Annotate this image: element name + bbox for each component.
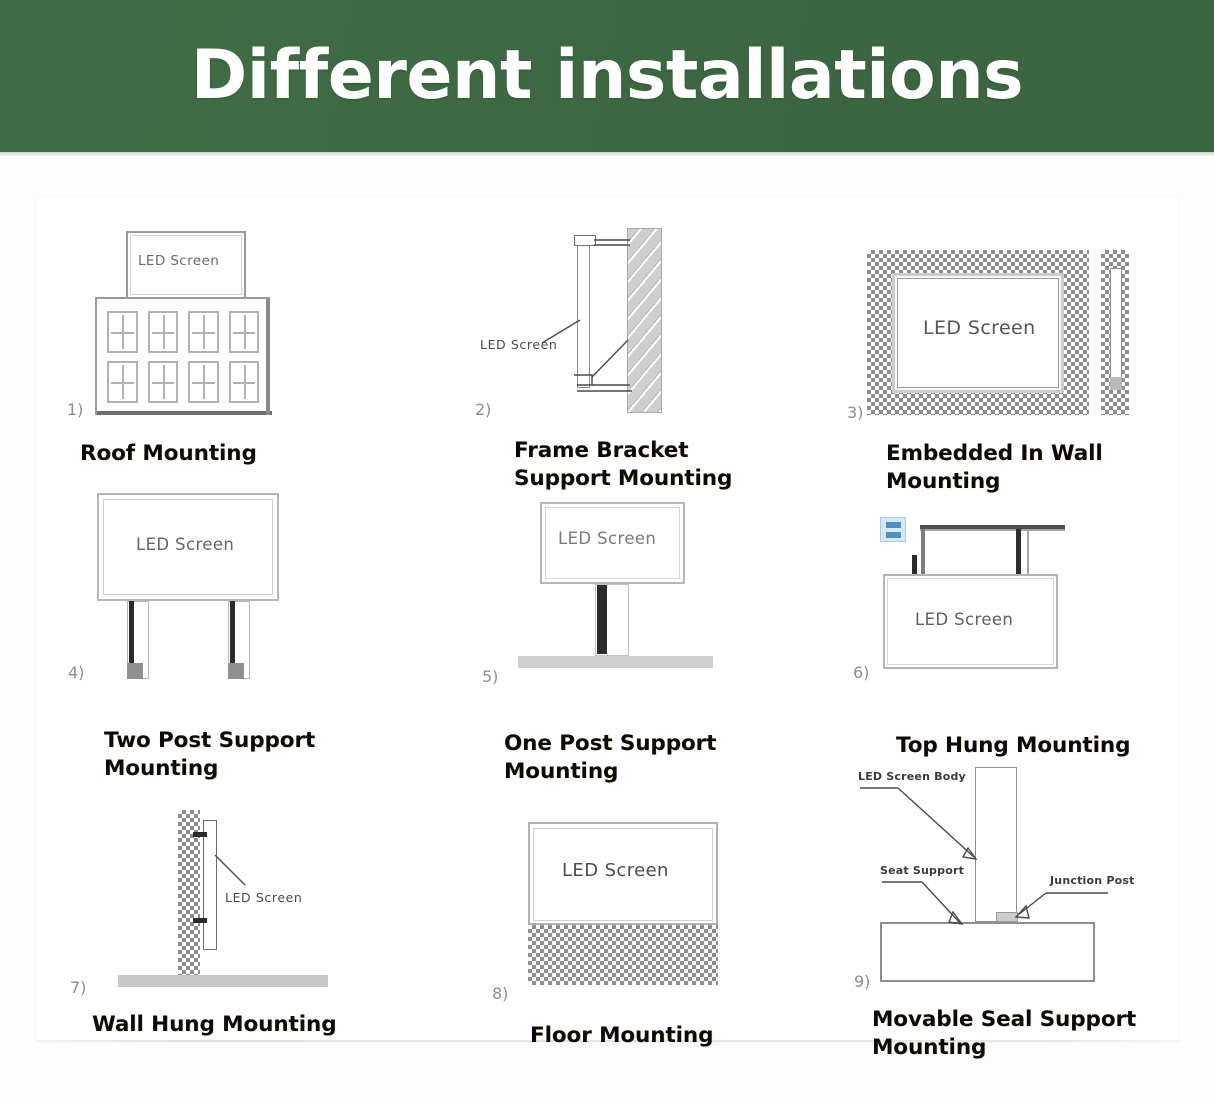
figure-number: 2) <box>475 400 491 419</box>
slide-page: Different installations LED Screen <box>0 0 1214 1101</box>
caption-roof-mounting: Roof Mounting <box>80 440 380 468</box>
figure-floor-mounting: LED Screen 8) <box>470 800 850 1000</box>
screen-label: LED Screen <box>480 337 557 352</box>
header-bar: Different installations <box>0 0 1214 152</box>
screen-label: LED Screen <box>138 253 219 269</box>
caption-movable-seal: Movable Seal Support Mounting <box>872 1006 1192 1061</box>
screen-label: LED Screen <box>558 529 656 548</box>
caption-one-post: One Post Support Mounting <box>504 730 814 785</box>
caption-frame-bracket: Frame Bracket Support Mounting <box>514 437 834 492</box>
figure-number: 9) <box>854 972 870 991</box>
caption-wall-hung: Wall Hung Mounting <box>92 1011 422 1039</box>
figure-top-hung: LED Screen 6) <box>850 485 1190 695</box>
figure-number: 1) <box>67 400 83 419</box>
annotation-led-screen-body: LED Screen Body <box>858 770 966 783</box>
figure-one-post: LED Screen 5) <box>470 485 850 695</box>
screen-label: LED Screen <box>225 890 302 905</box>
figure-number: 8) <box>492 984 508 1003</box>
figure-wall-hung: LED Screen 7) <box>60 800 440 1000</box>
figure-two-post: LED Screen 4) <box>60 485 440 695</box>
caption-floor-mounting: Floor Mounting <box>530 1022 860 1050</box>
screen-label: LED Screen <box>915 610 1013 629</box>
screen-label: LED Screen <box>923 317 1036 339</box>
figure-number: 3) <box>847 403 863 422</box>
save-icon <box>880 517 906 542</box>
page-title: Different installations <box>191 42 1023 110</box>
header-divider <box>0 152 1214 156</box>
figure-number: 4) <box>68 663 84 682</box>
annotation-seat-support: Seat Support <box>880 864 964 877</box>
figure-movable-seal: LED Screen Body Seat Support Junction Po… <box>850 760 1200 990</box>
figure-number: 6) <box>853 663 869 682</box>
figure-number: 5) <box>482 667 498 686</box>
figure-roof-mounting: LED Screen 1) <box>60 225 440 475</box>
screen-label: LED Screen <box>562 860 669 881</box>
annotation-junction-post: Junction Post <box>1050 874 1135 887</box>
caption-two-post: Two Post Support Mounting <box>104 727 414 782</box>
caption-top-hung: Top Hung Mounting <box>896 732 1196 760</box>
figure-embedded-wall: LED Screen 3) <box>845 225 1185 475</box>
screen-label: LED Screen <box>136 535 234 554</box>
figure-number: 7) <box>70 978 86 997</box>
